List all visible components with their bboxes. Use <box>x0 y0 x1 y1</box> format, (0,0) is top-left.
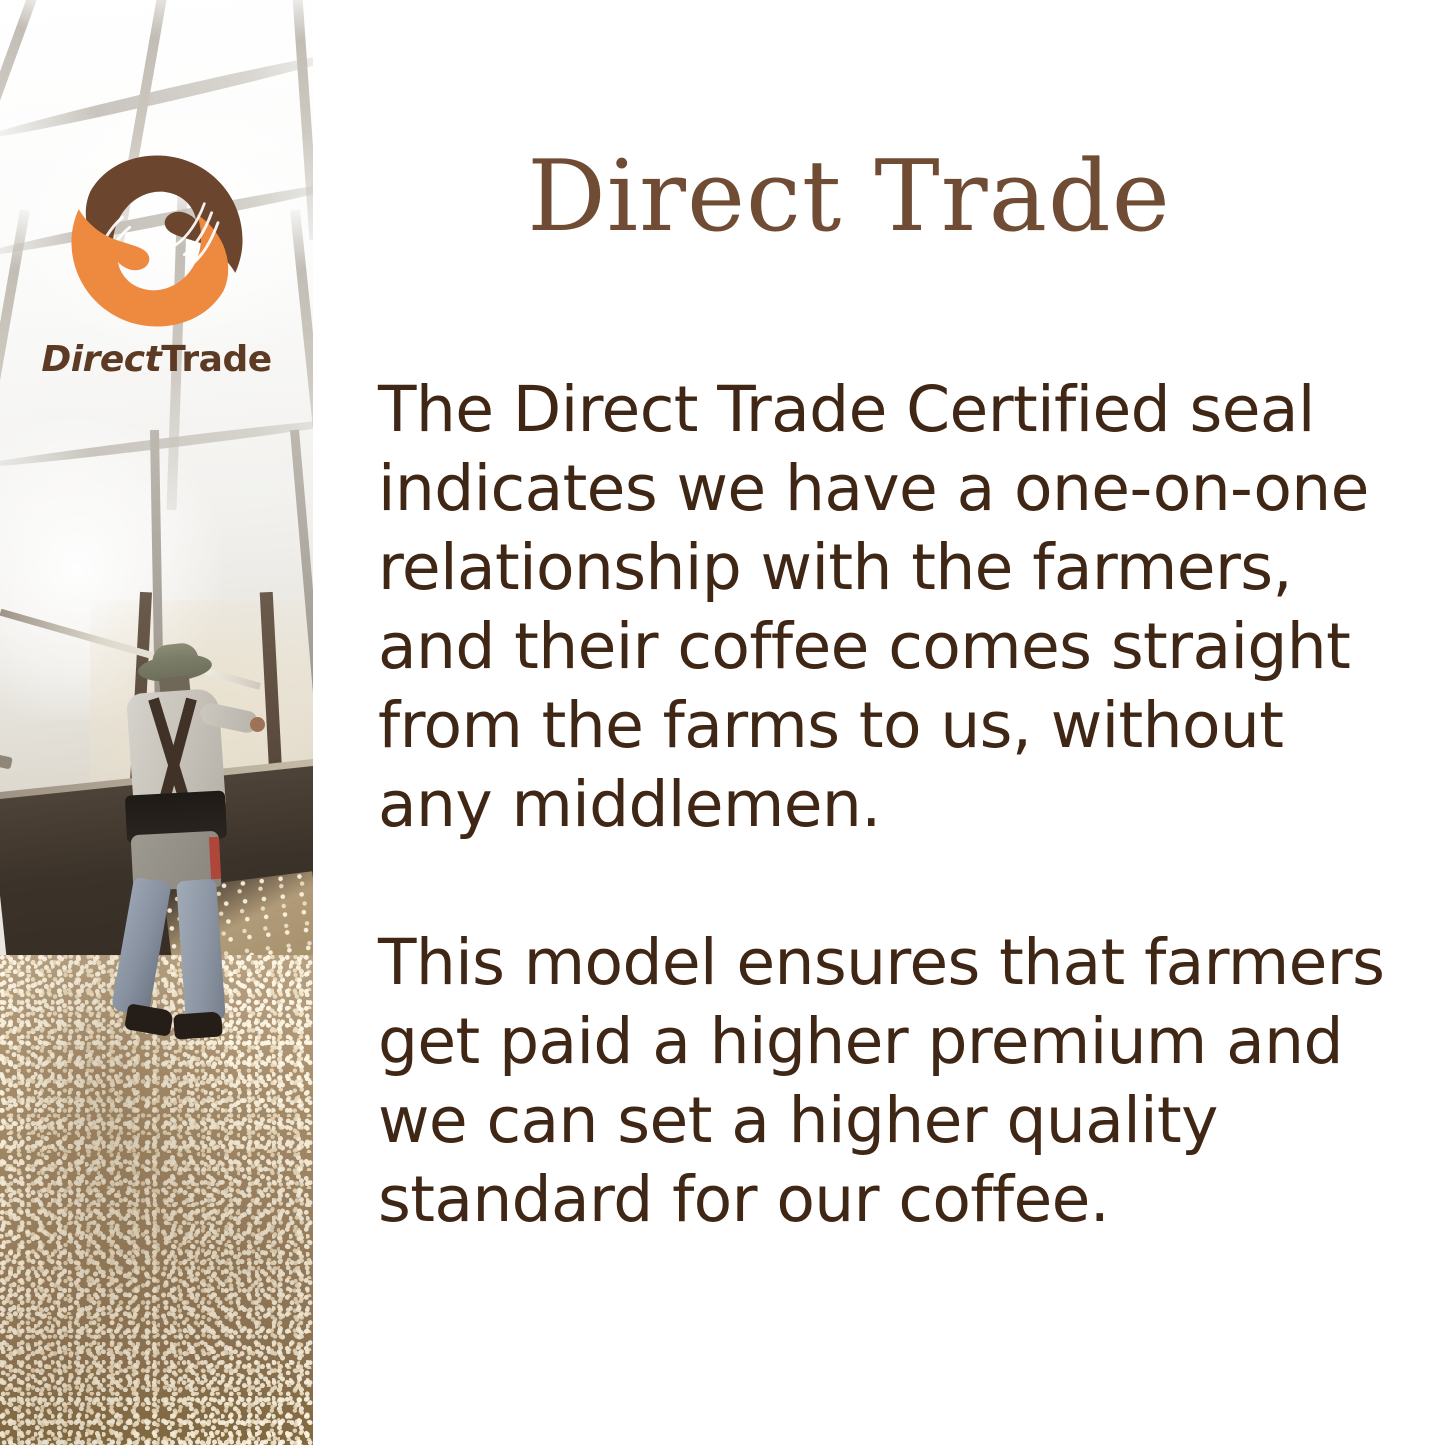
two-hands-circle-logo-icon <box>66 150 248 332</box>
farmer-leg-left <box>111 877 172 1017</box>
brand-logo: DirectTrade <box>0 150 313 378</box>
paragraph-2: This model ensures that farmers get paid… <box>378 923 1388 1239</box>
brand-wordmark-trade: Trade <box>161 339 271 380</box>
farmer-boot-right <box>173 1011 223 1039</box>
brand-wordmark-direct: Direct <box>41 339 161 380</box>
content-panel: Direct Trade The Direct Trade Certified … <box>313 0 1445 1445</box>
farmer-red-detail <box>209 837 221 879</box>
paragraph-1: The Direct Trade Certified seal indicate… <box>378 370 1388 844</box>
brand-wordmark: DirectTrade <box>41 342 271 378</box>
page-title: Direct Trade <box>283 148 1415 246</box>
farmer-leg-right <box>176 879 226 1023</box>
direct-trade-info-card: DirectTrade Direct Trade The Direct Trad… <box>0 0 1445 1445</box>
body-copy: The Direct Trade Certified seal indicate… <box>378 370 1388 1239</box>
farmer-boot-left <box>124 1003 174 1037</box>
farmer-hand <box>250 717 265 732</box>
farmer-figure <box>108 655 248 1075</box>
photo-strip-farmer-drying-coffee: DirectTrade <box>0 0 313 1445</box>
